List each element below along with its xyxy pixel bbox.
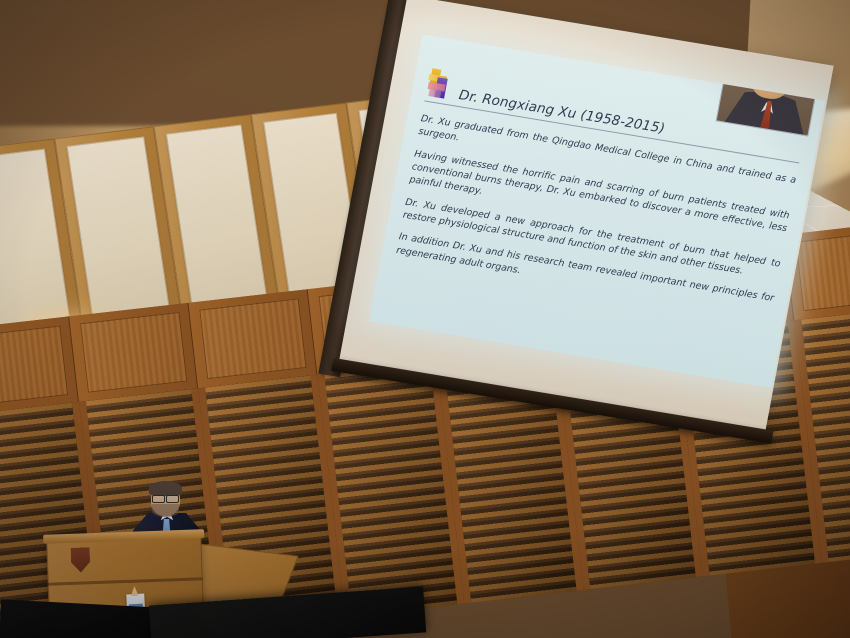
wainscot-panel: [69, 303, 198, 402]
portrait-photo: [716, 43, 823, 137]
projected-slide: Dr. Rongxiang Xu (1958-2015) Dr. Xu grad…: [369, 34, 825, 388]
lecture-hall-photo: Dr. Rongxiang Xu (1958-2015) Dr. Xu grad…: [0, 0, 850, 638]
wainscot-panel: [188, 289, 317, 388]
powerpoint-design-logo-icon: [425, 68, 456, 102]
screen-surface: Dr. Rongxiang Xu (1958-2015) Dr. Xu grad…: [339, 0, 834, 431]
wainscot-panel: [0, 316, 79, 415]
projection-screen: Dr. Rongxiang Xu (1958-2015) Dr. Xu grad…: [316, 0, 850, 509]
university-crest-icon: [71, 547, 91, 573]
